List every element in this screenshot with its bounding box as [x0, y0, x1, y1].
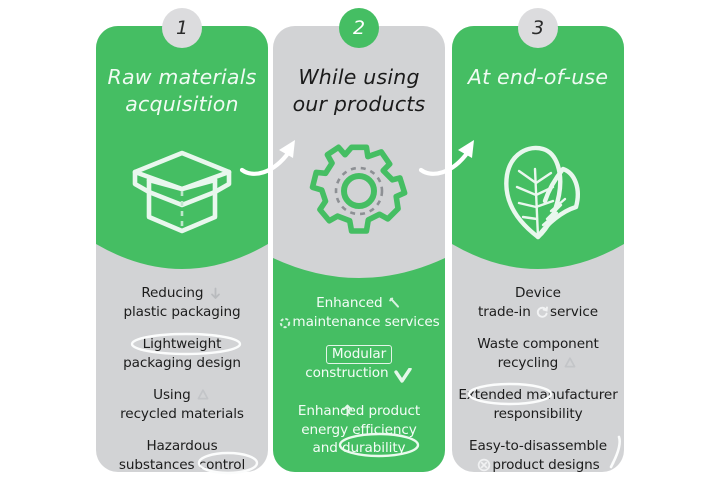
- stage-3-item-1: Device trade-in service: [456, 284, 620, 321]
- stage-2-item-2-line-2: construction: [277, 364, 441, 384]
- stage-1-item-3-text-1: Using: [153, 387, 191, 403]
- stage-2-item-1-text-1: Enhanced: [316, 295, 382, 311]
- stage-2-item-2: Modular construction: [277, 345, 441, 384]
- stage-1-item-2: Lightweight packaging design: [100, 335, 264, 372]
- stage-2-heading: While using our products: [279, 64, 439, 118]
- stage-3-item-1-text-2: trade-in: [478, 304, 531, 320]
- open-box-icon: [121, 139, 243, 243]
- stage-1-item-1-text-1: Reducing: [141, 285, 203, 301]
- stage-1-item-3-line-2: recycled materials: [100, 405, 264, 424]
- stage-3-item-3: Extended manufacturer responsibility: [456, 386, 620, 423]
- stage-3-heading-line-2: end-of-use: [497, 65, 608, 89]
- stage-1-item-3: Using recycled materials: [100, 386, 264, 423]
- stage-3-item-1-line-2: trade-in service: [456, 303, 620, 322]
- stage-2-item-3-line-2: energy efficiency: [277, 421, 441, 440]
- stage-3-item-1-text-3: service: [550, 304, 598, 320]
- stage-1-item-3-line-1: Using: [100, 386, 264, 405]
- stage-card-3[interactable]: 3 At end-of-use Device trade-in: [452, 26, 624, 472]
- stage-3-item-2-text-2: recycling: [498, 355, 559, 371]
- arrow-stage2-to-stage3: [418, 132, 482, 178]
- stage-3-item-4-line-1: Easy-to-disassemble: [456, 437, 620, 456]
- stage-3-number-badge: 3: [518, 8, 558, 48]
- stage-3-heading: At end-of-use: [458, 64, 618, 91]
- stage-2-item-list: Enhanced maintenance services: [277, 294, 441, 472]
- stage-3-item-3-line-1: Extended manufacturer: [456, 386, 620, 405]
- stage-1-item-4-line-1: Hazardous: [100, 437, 264, 456]
- arrow-up-icon: [342, 404, 353, 417]
- stage-1-item-2-line-2: packaging design: [100, 354, 264, 373]
- stage-3-item-2-line-1: Waste component: [456, 335, 620, 354]
- recycle-icon: [196, 389, 210, 402]
- stage-1-item-4: Hazardous substances control: [100, 437, 264, 474]
- arrow-stage1-to-stage2: [239, 132, 303, 178]
- stage-1-item-4-line-2: substances control: [100, 456, 264, 475]
- stage-1-item-1-line-2: plastic packaging: [100, 303, 264, 322]
- stage-2-number-badge: 2: [339, 8, 379, 48]
- stage-1-item-1: Reducing plastic packaging: [100, 284, 264, 321]
- stage-2-item-1: Enhanced maintenance services: [277, 294, 441, 331]
- checkmark-icon: [394, 368, 412, 384]
- gear-small-icon: [279, 317, 291, 329]
- stage-2-item-3-text-1: Enhanced product: [298, 403, 420, 419]
- stage-1-heading: Raw materials acquisition: [102, 64, 262, 118]
- stage-2-item-3: Enhanced product energy efficiency and d…: [277, 402, 441, 458]
- leaves-icon: [477, 139, 599, 243]
- stage-1-heading-line-2: acquisition: [125, 92, 238, 116]
- stage-3-item-list: Device trade-in service Waste component …: [456, 284, 620, 488]
- wrench-icon: [388, 297, 401, 310]
- stage-3-item-4: Easy-to-disassemble product designs: [456, 437, 620, 474]
- stage-3-item-4-line-2: product designs: [456, 456, 620, 475]
- stage-2-item-1-text-2: maintenance services: [292, 314, 439, 330]
- stage-2-item-2-text-2: construction: [305, 365, 388, 381]
- stage-3-item-4-text-2: product designs: [492, 457, 599, 473]
- stage-3-item-2-line-2: recycling: [456, 354, 620, 373]
- arrow-down-icon: [209, 287, 222, 300]
- recycle-icon: [563, 357, 577, 370]
- stage-2-item-1-line-1: Enhanced: [277, 294, 441, 313]
- stage-1-item-2-line-1: Lightweight: [100, 335, 264, 354]
- stage-1-number-badge: 1: [162, 8, 202, 48]
- stage-2-item-1-line-2: maintenance services: [277, 313, 441, 332]
- stage-2-item-3-line-3: and durability: [277, 439, 441, 458]
- stage-2-heading-line-2: our products: [293, 92, 426, 116]
- stage-1-heading-line-1: Raw materials: [108, 65, 257, 89]
- stage-card-1[interactable]: 1 Raw materials acquisition Reducing: [96, 26, 268, 472]
- stage-card-2[interactable]: 2 While using our products Enhanced: [273, 26, 445, 472]
- stage-1-item-list: Reducing plastic packaging Lightweight p…: [100, 284, 264, 488]
- lifecycle-infographic: 1 Raw materials acquisition Reducing: [0, 0, 719, 497]
- stage-3-heading-line-1: At: [468, 65, 490, 89]
- stage-2-item-2-boxed-label: Modular: [326, 345, 392, 364]
- stage-2-heading-line-1: While using: [298, 65, 419, 89]
- refresh-cycle-icon: [536, 306, 549, 319]
- disassemble-icon: [477, 458, 491, 472]
- stage-2-item-2-line-1: Modular: [277, 345, 441, 364]
- stage-3-item-1-line-1: Device: [456, 284, 620, 303]
- stage-1-item-1-line-1: Reducing: [100, 284, 264, 303]
- stage-2-item-3-line-1: Enhanced product: [277, 402, 441, 421]
- gear-icon: [298, 139, 420, 243]
- stage-3-item-2: Waste component recycling: [456, 335, 620, 372]
- stage-3-item-3-line-2: responsibility: [456, 405, 620, 424]
